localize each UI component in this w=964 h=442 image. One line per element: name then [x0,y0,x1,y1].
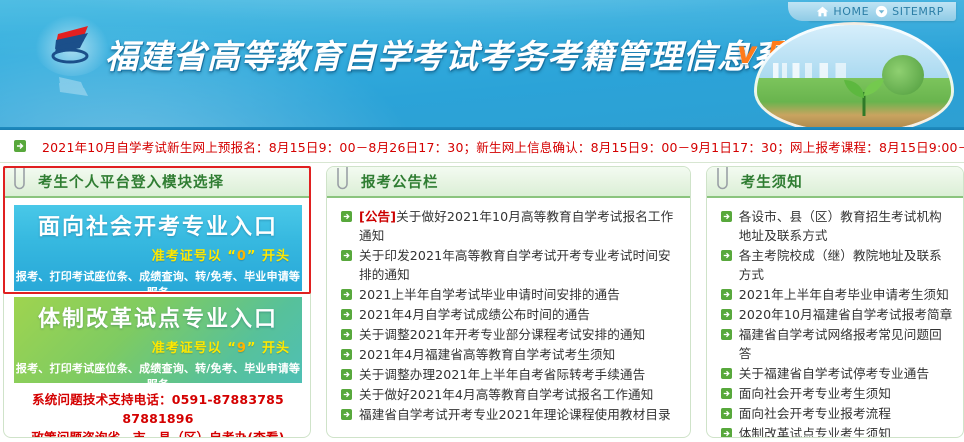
support-phone-line: 系统问题技术支持电话：0591-87883785 87881896 [14,390,302,428]
announcements-list: [公告]关于做好2021年10月高等教育自学考试报名工作通知关于印发2021年高… [337,205,682,424]
sitemap-link[interactable]: SITEMRP [875,5,944,18]
announcements-panel-header: 报考公告栏 [327,167,690,198]
green-arrow-icon [721,428,732,438]
entry-reform-subtitle-key: 9 [237,341,247,356]
login-module-panel: 考生个人平台登入模块选择 面向社会开考专业入口 准考证号以 “0” 开头 报考、… [3,166,311,438]
candidate-note-item-label: 面向社会开考专业考生须知 [739,384,891,403]
announcement-item-label: [公告]关于做好2021年10月高等教育自学考试报名工作通知 [359,207,680,245]
announcement-item[interactable]: 关于调整办理2021年上半年自考省际转考手续通告 [339,365,680,384]
announcement-item[interactable]: 关于做好2021年4月高等教育自学考试报名工作通知 [339,385,680,404]
home-icon [816,5,829,18]
candidate-note-item-label: 2021年上半年自考毕业申请考生须知 [739,285,949,304]
entry-reform-title: 体制改革试点专业入口 [14,305,302,335]
green-arrow-icon [341,289,352,300]
candidate-notes-title: 考生须知 [741,171,803,192]
paperclip-icon [336,166,352,194]
announcements-body: [公告]关于做好2021年10月高等教育自学考试报名工作通知关于印发2021年高… [327,198,690,424]
decorative-photo-bubble [754,22,954,130]
candidate-note-item-label: 关于福建省自学考试停考专业通告 [739,364,929,383]
announcement-text: 2021年10月自学考试新生网上预报名：8月15日9：00－8月26日17：30… [42,137,964,156]
stylized-emblem-logo-icon [48,22,96,66]
candidate-notes-panel-header: 考生须知 [707,167,963,198]
candidate-notes-panel: 考生须知 各设市、县（区）教育招生考试机构地址及联系方式各主考院校成（继）教院地… [706,166,964,438]
announcement-item-label: 2021年4月福建省高等教育自学考试考生须知 [359,345,615,364]
candidate-note-item-label: 体制改革试点专业考生须知 [739,424,891,438]
entry-reform-footer: 报考、打印考试座位条、成绩查询、转/免考、毕业申请等服务 [14,360,302,392]
home-link-label: HOME [833,5,869,18]
green-arrow-icon [341,211,352,222]
entry-reform-pilot-major[interactable]: 体制改革试点专业入口 准考证号以 “9” 开头 报考、打印考试座位条、成绩查询、… [14,297,302,383]
login-module-panel-header: 考生个人平台登入模块选择 [4,167,310,198]
candidate-notes-column: 考生须知 各设市、县（区）教育招生考试机构地址及联系方式各主考院校成（继）教院地… [706,166,964,439]
entry-social-subtitle-key: 0 [237,249,247,264]
green-arrow-icon [341,309,352,320]
candidate-note-item-label: 福建省自学考试网络报考常见问题回答 [739,325,953,363]
entry-reform-subtitle-prefix: 准考证号以 “ [152,341,237,356]
green-arrow-icon [721,408,732,419]
green-arrow-icon [341,389,352,400]
candidate-note-item-label: 面向社会开考专业报考流程 [739,404,891,423]
candidate-note-item[interactable]: 2021年上半年自考毕业申请考生须知 [719,285,953,304]
paperclip-icon [13,166,29,194]
announcement-item-label: 关于调整2021年开考专业部分课程考试安排的通知 [359,325,645,344]
sitemap-link-label: SITEMRP [892,5,944,18]
green-arrow-icon [341,349,352,360]
announcement-item[interactable]: 关于调整2021年开考专业部分课程考试安排的通知 [339,325,680,344]
candidate-notes-list: 各设市、县（区）教育招生考试机构地址及联系方式各主考院校成（继）教院地址及联系方… [717,205,955,438]
site-logo [48,22,96,94]
green-arrow-icon [341,409,352,420]
candidate-note-item[interactable]: 2020年10月福建省自学考试报考简章 [719,305,953,324]
announcement-bar: 2021年10月自学考试新生网上预报名：8月15日9：00－8月26日17：30… [0,130,964,163]
announcement-item-label: 2021年4月自学考试成绩公布时间的通告 [359,305,590,324]
candidate-note-item[interactable]: 各设市、县（区）教育招生考试机构地址及联系方式 [719,207,953,245]
green-arrow-icon [721,368,732,379]
candidate-note-item-label: 各设市、县（区）教育招生考试机构地址及联系方式 [739,207,953,245]
site-title: 福建省高等教育自学考试考务考籍管理信息系统 [105,30,819,78]
announcement-item[interactable]: 2021年4月福建省高等教育自学考试考生须知 [339,345,680,364]
green-arrow-icon [341,369,352,380]
candidate-note-item[interactable]: 各主考院校成（继）教院地址及联系方式 [719,246,953,284]
entry-reform-subtitle: 准考证号以 “9” 开头 [14,337,302,356]
entry-social-title: 面向社会开考专业入口 [14,213,302,243]
candidate-note-item[interactable]: 面向社会开考专业报考流程 [719,404,953,423]
green-arrow-icon [721,211,732,222]
logo-reflection [54,68,94,96]
support-policy-line[interactable]: 政策问题咨询省、市、县（区）自考办(查看) [14,428,302,438]
entry-social-subtitle-prefix: 准考证号以 “ [152,249,237,264]
candidate-note-item[interactable]: 体制改革试点专业考生须知 [719,424,953,438]
login-module-title: 考生个人平台登入模块选择 [38,171,224,192]
top-utility-links: HOME SITEMRP [808,2,956,21]
announcements-title: 报考公告栏 [361,171,439,192]
entry-reform-subtitle-suffix: ” 开头 [247,341,290,356]
candidate-note-item[interactable]: 福建省自学考试网络报考常见问题回答 [719,325,953,363]
announcement-item[interactable]: [公告]关于做好2021年10月高等教育自学考试报名工作通知 [339,207,680,245]
announcements-panel: 报考公告栏 [公告]关于做好2021年10月高等教育自学考试报名工作通知关于印发… [326,166,691,438]
home-link[interactable]: HOME [816,5,869,18]
candidate-note-item[interactable]: 面向社会开考专业考生须知 [719,384,953,403]
announcement-item-label: 关于做好2021年4月高等教育自学考试报名工作通知 [359,385,653,404]
announcement-item[interactable]: 2021上半年自学考试毕业申请时间安排的通告 [339,285,680,304]
chevron-down-circle-icon [875,5,888,18]
green-arrow-icon [721,250,732,261]
main-content: 考生个人平台登入模块选择 面向社会开考专业入口 准考证号以 “0” 开头 报考、… [0,163,964,439]
bubble-sprout-icon [838,76,890,116]
announcements-column: 报考公告栏 [公告]关于做好2021年10月高等教育自学考试报名工作通知关于印发… [326,166,691,439]
announcement-item[interactable]: 关于印发2021年高等教育自学考试开考专业考试时间安排的通知 [339,246,680,284]
candidate-note-item-label: 2020年10月福建省自学考试报考简章 [739,305,953,324]
green-arrow-icon [341,329,352,340]
candidate-note-item[interactable]: 关于福建省自学考试停考专业通告 [719,364,953,383]
green-arrow-icon [14,140,26,152]
announcement-item-label: 关于调整办理2021年上半年自考省际转考手续通告 [359,365,645,384]
site-header-banner: 福建省高等教育自学考试考务考籍管理信息系统 v 5.5 HOME SITEMRP [0,0,964,130]
paperclip-icon [716,166,732,194]
announcement-item-label: 关于印发2021年高等教育自学考试开考专业考试时间安排的通知 [359,246,680,284]
announcement-item[interactable]: 2021年4月自学考试成绩公布时间的通告 [339,305,680,324]
entry-social-exam-major[interactable]: 面向社会开考专业入口 准考证号以 “0” 开头 报考、打印考试座位条、成绩查询、… [14,205,302,291]
announcement-item[interactable]: 福建省自学考试开考专业2021年理论课程使用教材目录 [339,405,680,424]
announcement-item-tag: [公告] [359,209,396,224]
login-module-column: 考生个人平台登入模块选择 面向社会开考专业入口 准考证号以 “0” 开头 报考、… [3,166,311,439]
announcement-item-label: 福建省自学考试开考专业2021年理论课程使用教材目录 [359,405,671,424]
announcement-item-label: 2021上半年自学考试毕业申请时间安排的通告 [359,285,620,304]
green-arrow-icon [721,329,732,340]
green-arrow-icon [721,289,732,300]
entry-social-subtitle: 准考证号以 “0” 开头 [14,245,302,264]
green-arrow-icon [341,250,352,261]
entry-social-subtitle-suffix: ” 开头 [247,249,290,264]
support-info: 系统问题技术支持电话：0591-87883785 87881896 政策问题咨询… [14,390,302,438]
entry-social-footer: 报考、打印考试座位条、成绩查询、转/免考、毕业申请等服务 [14,268,302,300]
login-module-body: 面向社会开考专业入口 准考证号以 “0” 开头 报考、打印考试座位条、成绩查询、… [4,198,310,438]
candidate-note-item-label: 各主考院校成（继）教院地址及联系方式 [739,246,953,284]
green-arrow-icon [721,309,732,320]
candidate-notes-body: 各设市、县（区）教育招生考试机构地址及联系方式各主考院校成（继）教院地址及联系方… [707,198,963,438]
green-arrow-icon [721,388,732,399]
